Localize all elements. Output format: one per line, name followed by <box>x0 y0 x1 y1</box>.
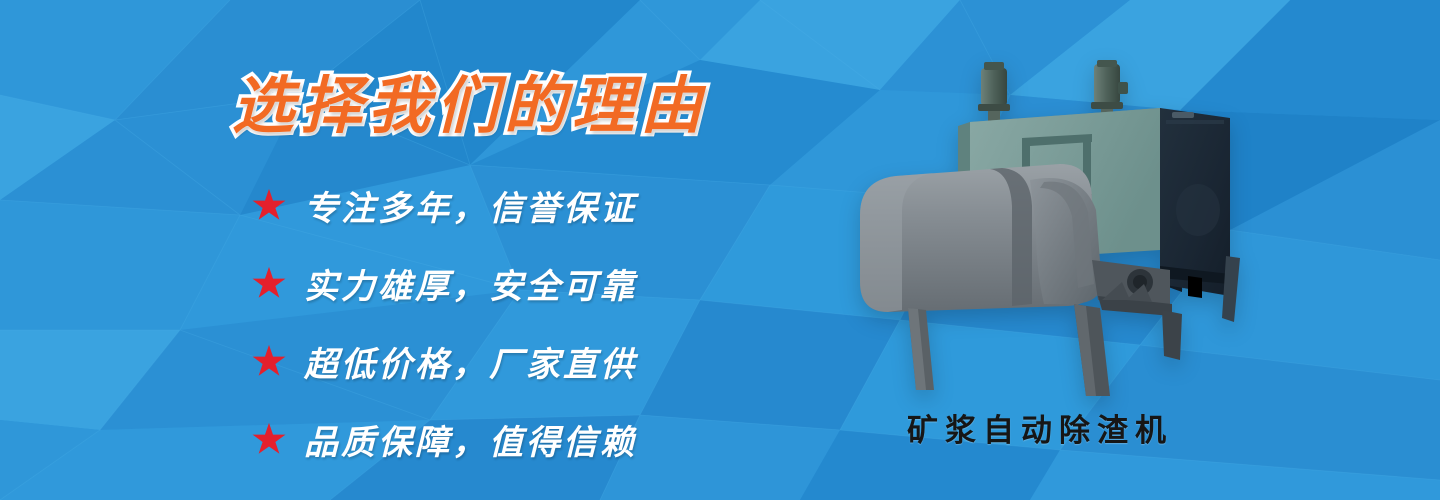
star-icon <box>252 422 286 456</box>
page-title: 选择我们的理由 <box>232 55 708 145</box>
list-item: 专注多年，信誉保证 <box>252 166 722 244</box>
list-item-label: 专注多年，信誉保证 <box>304 181 637 230</box>
benefits-list: 专注多年，信誉保证 实力雄厚，安全可靠 超低价格，厂家直供 品质保障，值得信赖 <box>252 166 722 478</box>
list-item-label: 实力雄厚，安全可靠 <box>304 259 637 308</box>
star-icon <box>252 188 286 222</box>
star-icon <box>252 266 286 300</box>
product-column: 矿浆自动除渣机 <box>830 60 1250 460</box>
product-photo-deslagging-machine <box>830 60 1250 400</box>
list-item: 品质保障，值得信赖 <box>252 400 722 478</box>
copy-column: 选择我们的理由 专注多年，信誉保证 实力雄厚，安全可靠 超低价格，厂家直供 <box>0 0 760 500</box>
product-caption: 矿浆自动除渣机 <box>830 405 1250 450</box>
star-icon <box>252 344 286 378</box>
motor-left <box>978 62 1010 129</box>
list-item-label: 品质保障，值得信赖 <box>304 415 637 464</box>
list-item: 超低价格，厂家直供 <box>252 322 722 400</box>
list-item-label: 超低价格，厂家直供 <box>304 337 637 386</box>
list-item: 实力雄厚，安全可靠 <box>252 244 722 322</box>
promo-banner: 选择我们的理由 专注多年，信誉保证 实力雄厚，安全可靠 超低价格，厂家直供 <box>0 0 1440 500</box>
